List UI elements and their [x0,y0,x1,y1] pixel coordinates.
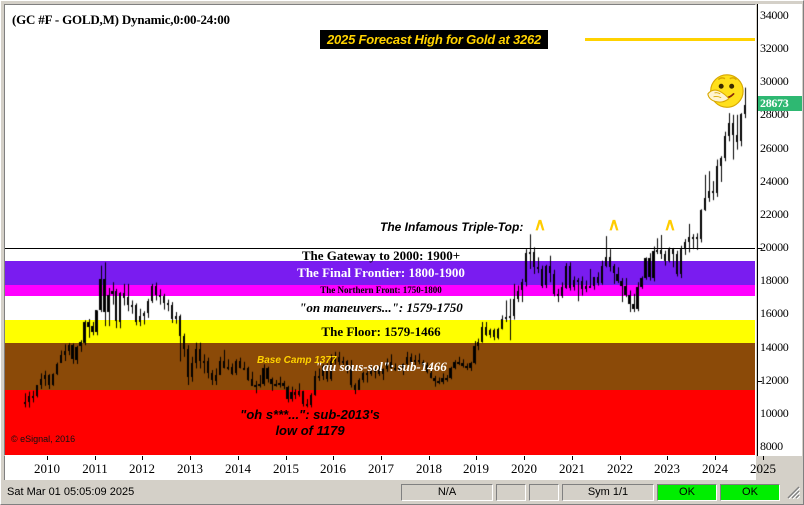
triple-top-label: The Infamous Triple-Top: [380,220,523,234]
date-label-2025: 2025 [750,461,776,477]
date-label-2016: 2016 [320,461,346,477]
date-tick [238,456,239,460]
date-tick [476,456,477,460]
date-label-2021: 2021 [559,461,585,477]
status-ok-1[interactable]: OK [657,484,717,501]
date-tick [572,456,573,460]
date-label-2010: 2010 [34,461,60,477]
triple-top-peak-2-marker: ∧ [608,216,620,233]
date-label-2015: 2015 [273,461,299,477]
date-label-2013: 2013 [177,461,203,477]
status-blank-1 [496,484,526,501]
date-tick [763,456,764,460]
price-tick-20000: 20000 [760,240,789,255]
price-tick-32000: 32000 [760,41,789,56]
esignal-watermark: © eSignal, 2016 [11,434,75,444]
price-tick-16000: 16000 [760,306,789,321]
price-tick-24000: 24000 [760,174,789,189]
price-band-label-on-maneuvers: "on maneuvers...": 1579-1750 [5,300,756,316]
forecast-banner-label: 2025 Forecast High for Gold at 3262 [327,32,541,47]
date-axis[interactable]: 2010201120122013201420152016201720182019… [4,456,756,480]
date-label-2018: 2018 [416,461,442,477]
date-tick [190,456,191,460]
price-band-label-gateway: The Gateway to 2000: 1900+ [5,248,756,264]
date-label-2024: 2024 [702,461,728,477]
date-tick [715,456,716,460]
chart-title: (GC #F - GOLD,M) Dynamic,0:00-24:00 [12,12,230,28]
price-axis-line [757,4,758,456]
price-tick-14000: 14000 [760,340,789,355]
triple-top-peak-1-marker: ∧ [534,216,546,233]
forecast-banner: 2025 Forecast High for Gold at 3262 [320,30,548,49]
date-label-2023: 2023 [654,461,680,477]
price-tick-10000: 10000 [760,406,789,421]
date-tick [429,456,430,460]
price-band-label-au-sous-sol: "au sous-sol": sub-1466 [5,359,756,375]
oh-s-label-line-2: low of 1179 [160,423,460,438]
date-label-2017: 2017 [368,461,394,477]
date-label-2014: 2014 [225,461,251,477]
date-tick [95,456,96,460]
resize-grip[interactable] [786,485,800,499]
price-tick-18000: 18000 [760,273,789,288]
oh-s-label-line-1: "oh s***...": sub-2013's [160,407,460,422]
date-label-2022: 2022 [607,461,633,477]
forecast-level-line [585,38,756,41]
price-tick-8000: 8000 [760,439,783,454]
status-ok-2[interactable]: OK [720,484,780,501]
date-tick [524,456,525,460]
date-label-2011: 2011 [82,461,108,477]
price-axis[interactable]: 3400032000300002800026000240002200020000… [757,4,802,456]
status-datetime: Sat Mar 01 05:05:09 2025 [2,486,134,498]
date-tick [333,456,334,460]
price-tick-34000: 34000 [760,8,789,23]
date-tick [381,456,382,460]
chart-plot-area[interactable]: The Gateway to 2000: 1900+The Final Fron… [4,4,756,456]
price-tick-mark [757,381,762,382]
date-label-2020: 2020 [511,461,537,477]
status-blank-2 [529,484,559,501]
price-band-label-the-floor: The Floor: 1579-1466 [5,324,756,340]
price-tick-12000: 12000 [760,373,789,388]
triple-top-peak-3-marker: ∧ [664,216,676,233]
esignal-chart-window: The Gateway to 2000: 1900+The Final Fron… [0,0,804,505]
price-band-label-northern-front: The Northern Front: 1750-1800 [5,285,756,295]
status-bar: Sat Mar 01 05:05:09 2025 N/ASym 1/1OKOK [2,482,802,502]
last-price-tag: 28673 [758,96,802,111]
status-symbol: Sym 1/1 [562,484,654,501]
date-label-2012: 2012 [129,461,155,477]
date-tick [286,456,287,460]
date-tick [142,456,143,460]
price-band-label-final-frontier: The Final Frontier: 1800-1900 [5,265,756,281]
date-label-2019: 2019 [463,461,489,477]
price-tick-22000: 22000 [760,207,789,222]
price-tick-30000: 30000 [760,74,789,89]
date-tick [667,456,668,460]
status-na: N/A [401,484,493,501]
date-tick [47,456,48,460]
base-camp-label: Base Camp 1377 [257,355,337,366]
date-tick [620,456,621,460]
smiley-face-icon [704,71,746,113]
price-tick-mark [757,248,762,249]
price-tick-26000: 26000 [760,141,789,156]
